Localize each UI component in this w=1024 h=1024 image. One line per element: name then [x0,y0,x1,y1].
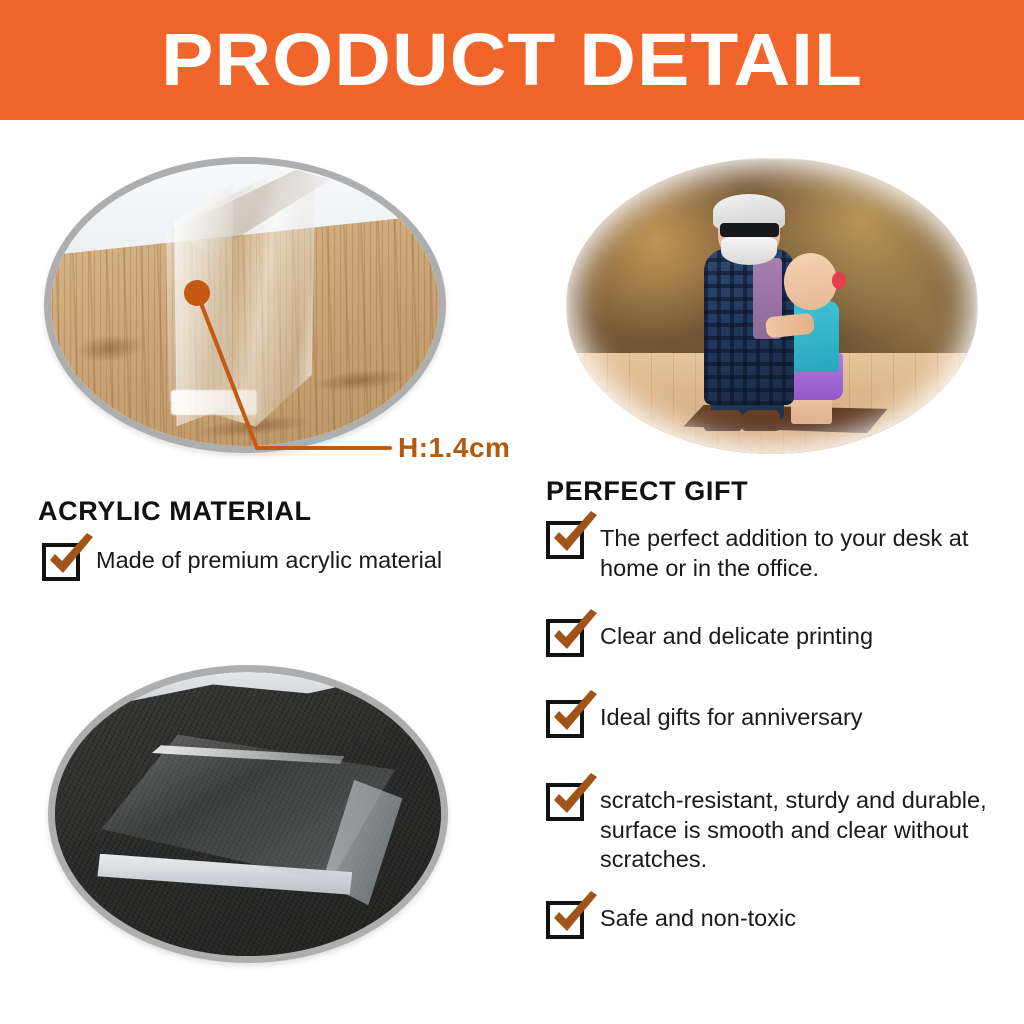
height-callout-leader [150,270,410,470]
acrylic-slab-photo [48,665,448,963]
slate-scene [55,672,441,956]
checkbox-checked-icon [546,521,584,559]
list-item: Safe and non-toxic [546,901,796,939]
section-heading-acrylic-material: ACRYLIC MATERIAL [38,496,312,527]
checkbox-checked-icon [42,543,80,581]
list-item: scratch-resistant, sturdy and durable, s… [546,783,1000,875]
list-item-label: scratch-resistant, sturdy and durable, s… [600,783,1000,875]
list-item: Made of premium acrylic material [42,543,442,581]
page-title: PRODUCT DETAIL [161,23,863,97]
checkbox-checked-icon [546,619,584,657]
checkbox-checked-icon [546,700,584,738]
section-heading-perfect-gift: PERFECT GIFT [546,476,748,507]
wood-knot [74,332,146,365]
list-item: The perfect addition to your desk at hom… [546,521,1000,583]
figurine-scene [566,158,978,454]
product-detail-banner: PRODUCT DETAIL [0,0,1024,120]
height-callout-label: H:1.4cm [398,432,510,464]
list-item: Clear and delicate printing [546,619,873,657]
callout-dot-icon [184,280,210,306]
list-item-label: Made of premium acrylic material [96,543,442,576]
soft-vignette [566,158,978,454]
list-item: Ideal gifts for anniversary [546,700,863,738]
checkbox-checked-icon [546,901,584,939]
list-item-label: Safe and non-toxic [600,901,796,934]
list-item-label: Ideal gifts for anniversary [600,700,863,733]
figurine-photo [566,158,978,454]
checkbox-checked-icon [546,783,584,821]
list-item-label: Clear and delicate printing [600,619,873,652]
list-item-label: The perfect addition to your desk at hom… [600,521,1000,583]
leader-line [197,293,390,448]
